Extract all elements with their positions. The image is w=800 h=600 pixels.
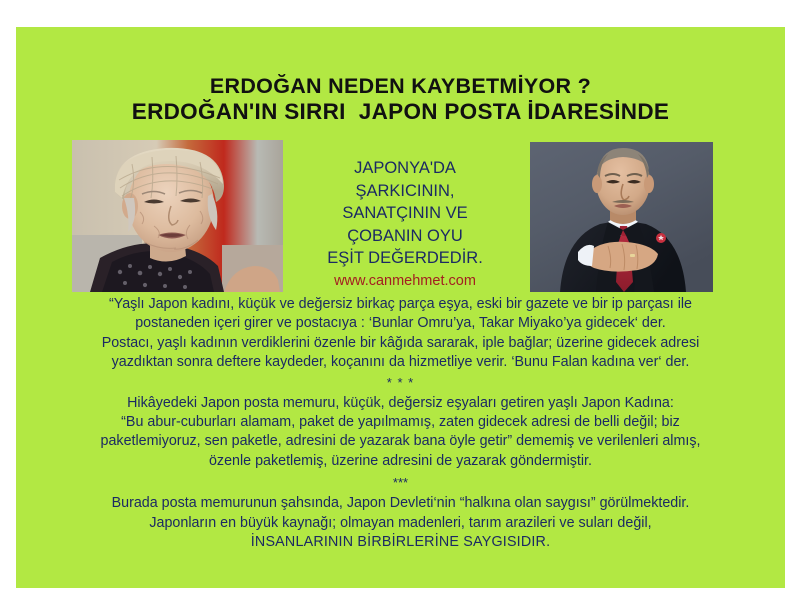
elderly-woman-photo-graphic: [72, 140, 283, 292]
center-headline-line-3: SANATÇININ VE: [296, 202, 514, 225]
paragraph-1: “Yaşlı Japon kadını, küçük ve değersiz b…: [16, 295, 785, 373]
center-headline: JAPONYA'DA ŞARKICININ, SANATÇININ VE ÇOB…: [296, 157, 514, 290]
paragraph-3-line-3: İNSANLARININ BİRBİRLERİNE SAYGISIDIR.: [16, 533, 785, 552]
paragraph-2-line-2: “Bu abur-cuburları alamam, paket de yapı…: [16, 413, 785, 432]
title-line-2: ERDOĞAN'IN SIRRI JAPON POSTA İDARESİNDE: [16, 99, 785, 125]
center-headline-line-4: ÇOBANIN OYU: [296, 225, 514, 248]
title-line-1: ERDOĞAN NEDEN KAYBETMİYOR ?: [16, 73, 785, 99]
man-in-suit-photo: [530, 142, 713, 292]
website-url[interactable]: www.canmehmet.com: [296, 272, 514, 290]
paragraph-1-line-1: “Yaşlı Japon kadını, küçük ve değersiz b…: [16, 295, 785, 314]
elderly-woman-photo: [72, 140, 283, 292]
page-title: ERDOĞAN NEDEN KAYBETMİYOR ? ERDOĞAN'IN S…: [16, 73, 785, 125]
paragraph-2-line-4: özenle paketlemiş, üzerine adresini de y…: [16, 452, 785, 471]
poster-panel: ERDOĞAN NEDEN KAYBETMİYOR ? ERDOĞAN'IN S…: [16, 27, 785, 588]
section-divider-1: * * *: [16, 374, 785, 391]
paragraph-2-line-3: paketlemiyoruz, sen paketle, adresini de…: [16, 432, 785, 451]
paragraph-3: Burada posta memurunun şahsında, Japon D…: [16, 494, 785, 552]
center-headline-line-1: JAPONYA'DA: [296, 157, 514, 180]
paragraph-1-line-3: Postacı, yaşlı kadının verdiklerini özen…: [16, 334, 785, 353]
man-in-suit-photo-graphic: [530, 142, 713, 292]
center-headline-line-5: EŞİT DEĞERDEDİR.: [296, 247, 514, 270]
section-divider-2: ***: [16, 474, 785, 491]
paragraph-2-line-1: Hikâyedeki Japon posta memuru, küçük, de…: [16, 394, 785, 413]
paragraph-1-line-2: postaneden içeri girer ve postacıya : ‘B…: [16, 314, 785, 333]
center-headline-line-2: ŞARKICININ,: [296, 180, 514, 203]
body-content: “Yaşlı Japon kadını, küçük ve değersiz b…: [16, 295, 785, 552]
paragraph-3-line-2: Japonların en büyük kaynağı; olmayan mad…: [16, 514, 785, 533]
paragraph-2: Hikâyedeki Japon posta memuru, küçük, de…: [16, 394, 785, 472]
paragraph-3-line-1: Burada posta memurunun şahsında, Japon D…: [16, 494, 785, 513]
paragraph-1-line-4: yazdıktan sonra deftere kaydeder, koçanı…: [16, 353, 785, 372]
